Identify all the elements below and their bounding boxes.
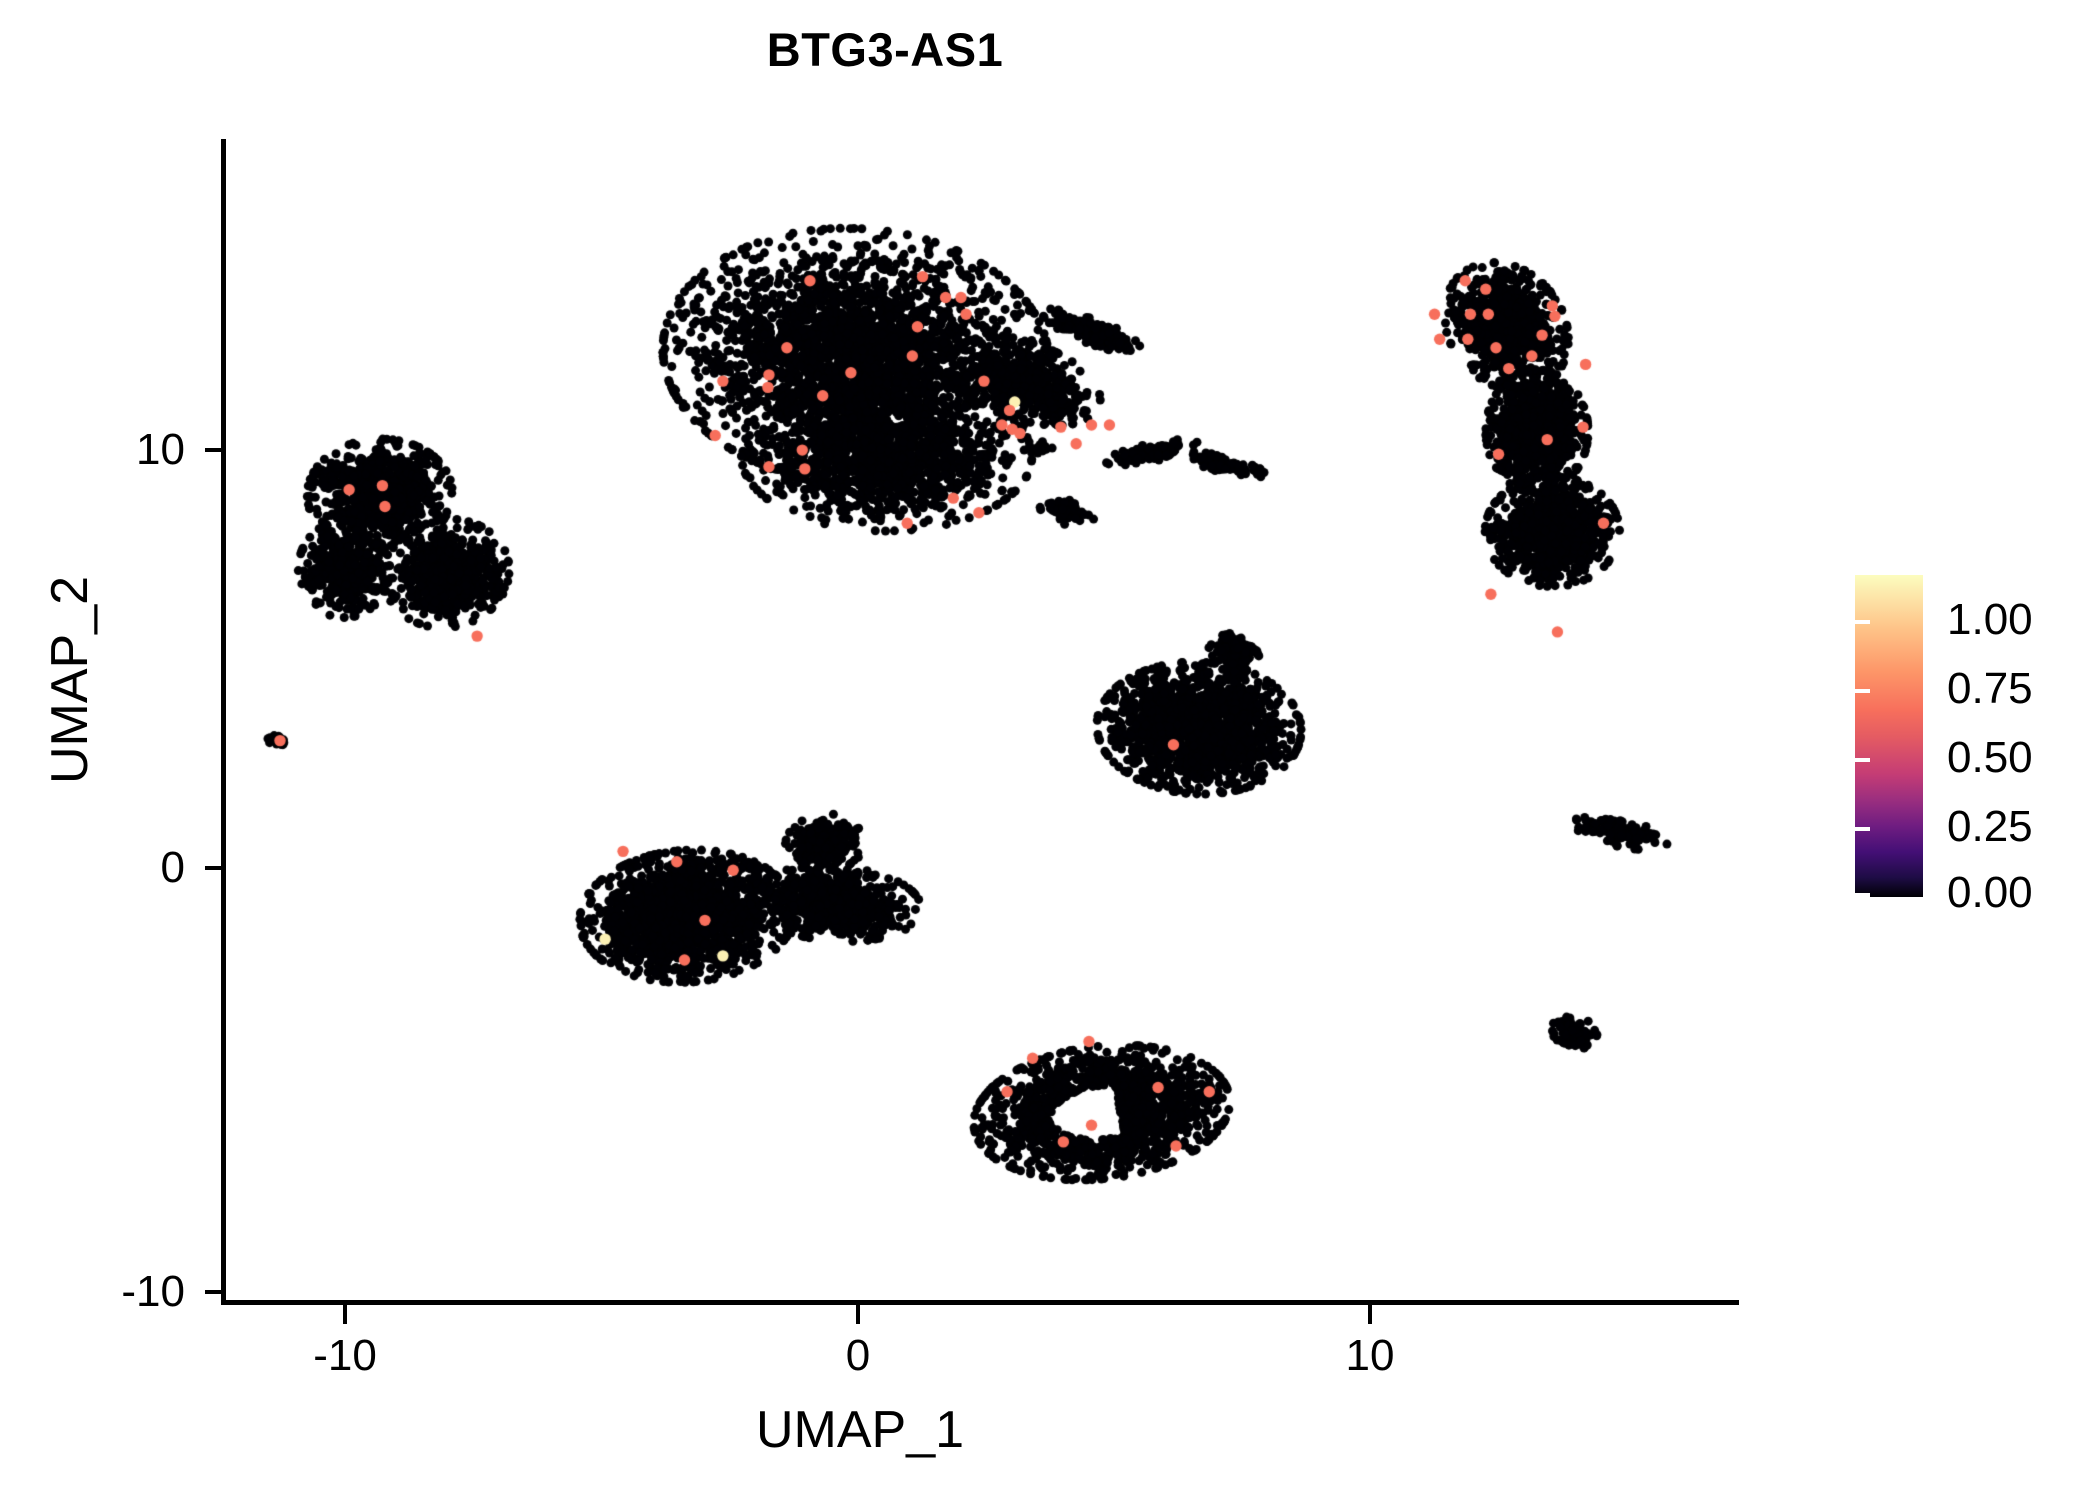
x-axis-tick--10 [343,1305,347,1324]
legend-tick-0-50-left [1855,758,1870,762]
legend-label-0-25: 0.25 [1947,805,2100,849]
x-axis-tick-label--10: -10 [245,1334,445,1378]
legend-label-0-00: 0.00 [1947,871,2100,915]
y-axis-line [221,139,226,1305]
legend-tick-0-00-left [1855,893,1870,897]
page-title: BTG3-AS1 [0,22,1770,77]
y-axis-tick-label--10: -10 [25,1270,185,1314]
legend-label-1-00: 1.00 [1947,598,2100,642]
x-axis-tick-10 [1368,1305,1372,1324]
color-legend: 1.00 0.75 0.50 0.25 0.00 [1855,575,2085,900]
legend-label-0-75: 0.75 [1947,667,2100,711]
x-axis-tick-0 [856,1305,860,1324]
x-axis-line [221,1300,1739,1305]
x-axis-tick-label-0: 0 [758,1334,958,1378]
plot-canvas-area [0,0,2100,1500]
x-axis-title: UMAP_1 [680,1400,1040,1460]
legend-tick-1-00-left [1855,620,1870,624]
y-axis-tick-0 [205,866,223,870]
x-axis-tick-label-10: 10 [1270,1334,1470,1378]
legend-tick-0-25-left [1855,827,1870,831]
umap-scatter-canvas [0,0,2100,1500]
legend-label-0-50: 0.50 [1947,736,2100,780]
legend-tick-0-75-left [1855,689,1870,693]
y-axis-title: UMAP_2 [40,380,100,980]
umap-feature-plot: BTG3-AS1 10 0 -10 -10 0 10 UMAP_2 UMAP_1… [0,0,2100,1500]
y-axis-tick-10 [205,448,223,452]
y-axis-tick--10 [205,1290,223,1294]
